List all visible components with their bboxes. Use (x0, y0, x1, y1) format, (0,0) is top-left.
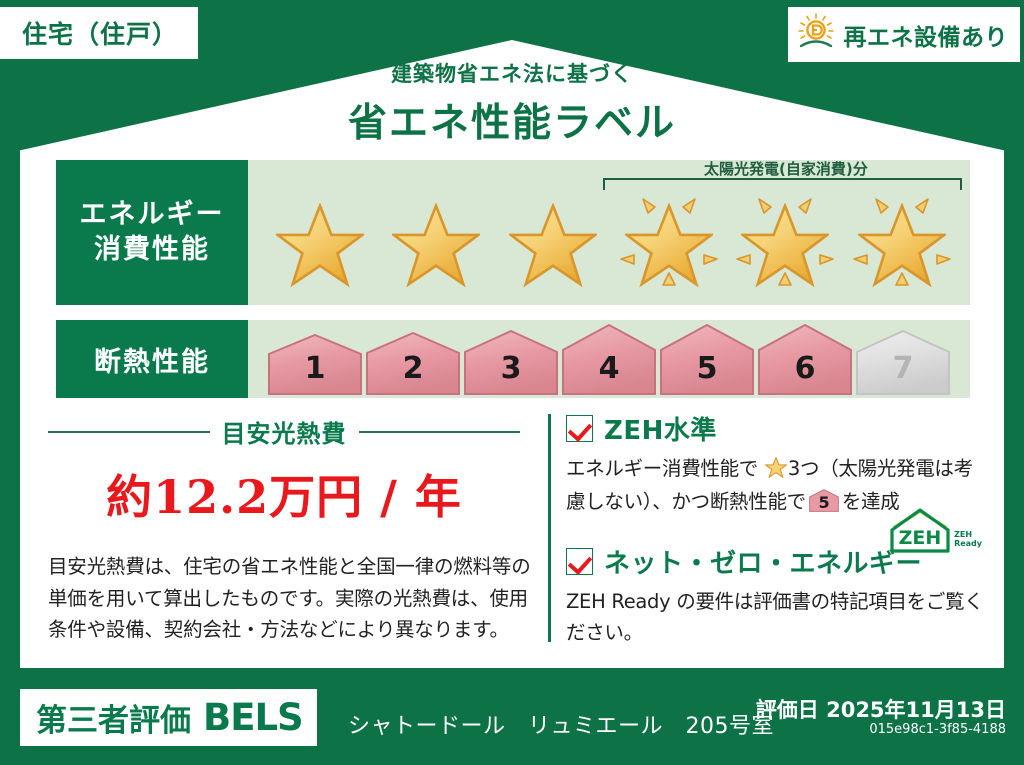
bels-jp-label: 第三者評価 (36, 695, 191, 740)
star-solar-icon (617, 193, 721, 297)
zeh-standard-title: ZEH水準 (604, 410, 717, 447)
insulation-level-3: 3 (463, 330, 559, 396)
divider-right (359, 431, 521, 433)
insulation-badge-value: 5 (809, 491, 839, 516)
insulation-level-value: 3 (501, 351, 522, 396)
insulation-performance-row: 断熱性能 1 2 3 4 (56, 320, 970, 398)
solar-sun-icon (796, 12, 836, 57)
zeh-ready-logo: ZEH ZEH Ready (889, 508, 982, 554)
star-solar-icon (850, 193, 954, 297)
zeh-ready-line2: Ready (954, 539, 982, 548)
badge-building-type: 住宅（住戸） (0, 7, 198, 59)
bels-en-label: BELS (203, 696, 303, 739)
star-icon (501, 193, 605, 297)
footer-bar: 第三者評価 BELS シャトードール リュミエール 205号室 評価日 2025… (0, 672, 1024, 765)
star-icon (268, 193, 372, 297)
utility-cost-value: 約12.2万円 / 年 (48, 461, 538, 527)
zeh-standard-header: ZEH水準 (566, 410, 990, 447)
checkmark-icon (566, 548, 593, 575)
solar-caption: 太陽光発電(自家消費)分 (602, 158, 970, 179)
insulation-level-4: 4 (561, 324, 657, 396)
star-solar-icon (733, 193, 837, 297)
utility-cost-note: 目安光熱費は、住宅の省エネ性能と全国一律の燃料等の単価を用いて算出したものです。… (48, 551, 538, 646)
energy-label-line1: エネルギー (80, 198, 225, 233)
insulation-level-2: 2 (365, 332, 461, 396)
badge-renewable-label: 再エネ設備あり (844, 18, 1009, 52)
net-zero-body: ZEH Ready の要件は評価書の特記項目をご覧ください。 (566, 587, 990, 647)
insulation-performance-label: 断熱性能 (56, 320, 248, 398)
insulation-level-1: 1 (267, 334, 363, 396)
page-title: 省エネ性能ラベル (0, 92, 1024, 148)
insulation-performance-field: 1 2 3 4 5 (248, 320, 970, 398)
evaluation-id: 015e98c1-3f85-4188 (869, 722, 1006, 737)
star-icon-inline (765, 457, 787, 487)
insulation-level-value: 2 (403, 351, 424, 396)
zeh-ready-sublabel: ZEH Ready (954, 531, 982, 554)
label-body: エネルギー 消費性能 太陽光発電(自家消費)分 (20, 152, 1004, 668)
insulation-level-value: 6 (795, 351, 816, 396)
checkmark-icon (566, 415, 593, 442)
zeh-logo-text: ZEH (899, 527, 942, 549)
energy-performance-field: 太陽光発電(自家消費)分 (248, 160, 970, 305)
lower-info-area: 目安光熱費 約12.2万円 / 年 目安光熱費は、住宅の省エネ性能と全国一律の燃… (20, 410, 1004, 662)
bels-badge: 第三者評価 BELS (20, 689, 317, 746)
divider-left (48, 431, 210, 433)
utility-cost-heading: 目安光熱費 (48, 414, 538, 449)
energy-performance-row: エネルギー 消費性能 太陽光発電(自家消費)分 (56, 160, 970, 305)
badge-renewable-equipment: 再エネ設備あり (788, 7, 1021, 62)
insulation-level-value: 4 (599, 351, 620, 396)
insulation-level-value: 1 (305, 351, 326, 396)
badge-building-type-label: 住宅（住戸） (22, 20, 178, 49)
net-zero-title: ネット・ゼロ・エネルギー (604, 543, 922, 580)
energy-performance-label: エネルギー 消費性能 (56, 160, 248, 305)
star-icon (384, 193, 488, 297)
insulation-level-5: 5 (659, 324, 755, 396)
utility-cost-section: 目安光熱費 約12.2万円 / 年 目安光熱費は、住宅の省エネ性能と全国一律の燃… (20, 410, 538, 662)
insulation-level-scale: 1 2 3 4 5 (262, 320, 956, 396)
insulation-level-7: 7 (855, 330, 951, 396)
zeh-house-icon: ZEH (889, 508, 951, 554)
zeh-section: ZEH水準 エネルギー消費性能で 3つ（太陽光発電は考慮しない）、かつ断熱性能で… (538, 410, 1004, 662)
insulation-level-value: 5 (697, 351, 718, 396)
label-title-block: 建築物省エネ法に基づく 省エネ性能ラベル (0, 58, 1024, 148)
utility-cost-heading-label: 目安光熱費 (222, 414, 347, 449)
insulation-level-6: 6 (757, 324, 853, 396)
insulation-badge-icon: 5 (809, 489, 839, 521)
title-subtitle: 建築物省エネ法に基づく (0, 58, 1024, 88)
property-name: シャトードール リュミエール 205号室 (348, 708, 774, 740)
insulation-level-value: 7 (893, 351, 914, 396)
zeh-standard-body-pre: エネルギー消費性能で (566, 457, 758, 480)
evaluation-date: 評価日 2025年11月13日 (756, 694, 1006, 724)
star-rating (262, 188, 960, 301)
energy-label-line2: 消費性能 (94, 233, 210, 268)
